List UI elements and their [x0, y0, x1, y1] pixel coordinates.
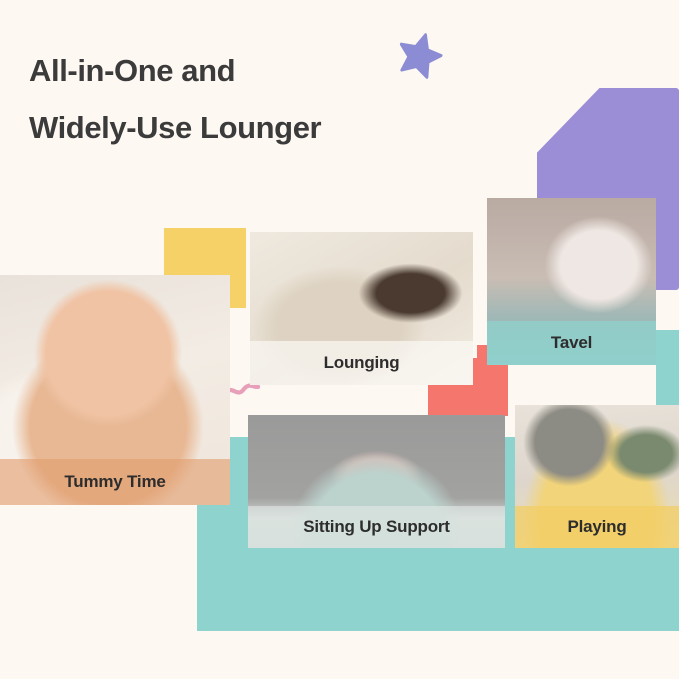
caption-sitting-up-support: Sitting Up Support: [248, 506, 505, 548]
card-playing[interactable]: Playing: [515, 405, 679, 548]
card-tummy-time[interactable]: Tummy Time: [0, 275, 230, 505]
caption-tavel: Tavel: [487, 321, 656, 365]
card-lounging[interactable]: Lounging: [250, 232, 473, 385]
caption-tummy-time: Tummy Time: [0, 459, 230, 505]
caption-lounging: Lounging: [250, 341, 473, 385]
page-title: All-in-One and Widely-Use Lounger: [29, 42, 449, 156]
infographic-canvas: All-in-One and Widely-Use Lounger Tummy …: [0, 0, 679, 679]
card-tavel[interactable]: Tavel: [487, 198, 656, 365]
card-sitting-up-support[interactable]: Sitting Up Support: [248, 415, 505, 548]
caption-playing: Playing: [515, 506, 679, 548]
